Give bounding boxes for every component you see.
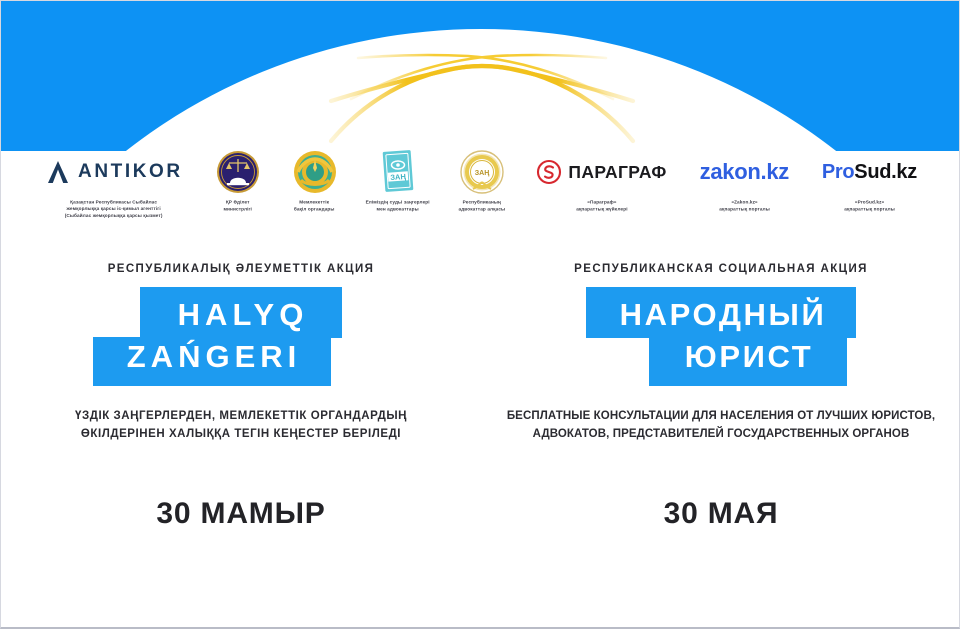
logo-state-emblem[interactable]: Мемлекеттік бақіл органдары (293, 149, 337, 212)
zan-book-caption: Еліміздің судьі заңгерлері мен адвокатта… (366, 199, 430, 213)
paragraf-caption: «Параграф» ақпараттық жүйелері (576, 199, 627, 213)
poster-canvas: ANTIKOR Қазақстан Республикасы Сыбайлас … (0, 0, 960, 629)
kazakh-kicker: РЕСПУБЛИКАЛЫҚ ӘЛЕУМЕТТІК АКЦИЯ (108, 263, 375, 275)
kazakh-column: РЕСПУБЛИКАЛЫҚ ӘЛЕУМЕТТІК АКЦИЯ HALYQ ZAŃ… (1, 263, 481, 444)
prosud-kz-wordmark: ProSud.kz (822, 161, 917, 184)
state-emblem-icon (293, 149, 337, 195)
zakon-kz-wordmark: zakon.kz (700, 159, 789, 185)
prosud-kz-wordmark-wrap: ProSud.kz (822, 149, 917, 195)
antikor-caption: Қазақстан Республикасы Сыбайлас жемқорлы… (65, 199, 163, 219)
logo-ministry-of-justice[interactable]: ҚР Әділет министрлігі (216, 149, 260, 212)
zan-book-icon: ЗАҢ (378, 149, 418, 195)
logo-zan-book[interactable]: ЗАҢ Еліміздің судьі заңгерлері мен адвок… (369, 149, 426, 212)
kazakh-date: 30 МАМЫР (1, 497, 481, 531)
zakon-kz-wordmark-wrap: zakon.kz (700, 149, 789, 195)
antikor-wordmark: ANTIKOR (78, 161, 183, 183)
svg-text:ЗАҢ: ЗАҢ (390, 172, 407, 182)
ministry-of-justice-icon (216, 149, 260, 195)
russian-kicker: РЕСПУБЛИКАНСКАЯ СОЦИАЛЬНАЯ АКЦИЯ (574, 263, 868, 275)
logo-paragraf[interactable]: ПАРАГРАФ «Параграф» ақпараттық жүйелері (536, 149, 666, 212)
kazakh-headline-line-2: ZAŃGERI (93, 337, 332, 386)
russian-headline-line-2: ЮРИСТ (649, 337, 847, 386)
prosud-pro-part: Pro (822, 161, 854, 183)
zakon-kz-caption: «Zakon.kz» ақпараттық порталы (719, 199, 770, 213)
logo-republican-bar[interactable]: ЗАҢ Республиканың адвокаттар алқасы (460, 149, 504, 212)
logo-antikor[interactable]: ANTIKOR Қазақстан Республикасы Сыбайлас … (45, 149, 183, 218)
russian-column: РЕСПУБЛИКАНСКАЯ СОЦИАЛЬНАЯ АКЦИЯ НАРОДНЫ… (481, 263, 960, 444)
ministry-of-justice-caption: ҚР Әділет министрлігі (223, 199, 252, 213)
golden-arcs-ornament (321, 29, 641, 144)
russian-headline: НАРОДНЫЙ ЮРИСТ (586, 287, 857, 386)
paragraf-icon: ПАРАГРАФ (536, 149, 666, 195)
svg-text:ЗАҢ: ЗАҢ (474, 170, 489, 177)
prosud-kz-caption: «ProSud.kz» ақпараттық порталы (844, 199, 895, 213)
kazakh-body-text: ҮЗДІК ЗАҢГЕРЛЕРДЕН, МЕМЛЕКЕТТІК ОРГАНДАР… (75, 408, 407, 444)
republican-bar-caption: Республиканың адвокаттар алқасы (458, 199, 505, 213)
russian-body-text: БЕСПЛАТНЫЕ КОНСУЛЬТАЦИИ ДЛЯ НАСЕЛЕНИЯ ОТ… (507, 408, 935, 444)
paragraf-wordmark: ПАРАГРАФ (568, 162, 666, 183)
event-dates: 30 МАМЫР 30 МАЯ (1, 497, 960, 531)
antikor-icon: ANTIKOR (45, 149, 183, 195)
prosud-sud-part: Sud.kz (854, 161, 917, 183)
state-emblem-caption: Мемлекеттік бақіл органдары (294, 199, 335, 213)
russian-date: 30 МАЯ (481, 497, 960, 531)
bilingual-content: РЕСПУБЛИКАЛЫҚ ӘЛЕУМЕТТІК АКЦИЯ HALYQ ZAŃ… (1, 263, 960, 444)
kazakh-headline: HALYQ ZAŃGERI (140, 287, 343, 386)
logo-prosud-kz[interactable]: ProSud.kz «ProSud.kz» ақпараттық порталы (822, 149, 917, 212)
kazakh-headline-line-1: HALYQ (140, 287, 343, 338)
russian-headline-line-1: НАРОДНЫЙ (586, 287, 857, 338)
logo-zakon-kz[interactable]: zakon.kz «Zakon.kz» ақпараттық порталы (700, 149, 789, 212)
partner-logo-strip: ANTIKOR Қазақстан Республикасы Сыбайлас … (1, 149, 960, 229)
republican-bar-icon: ЗАҢ (460, 149, 504, 195)
